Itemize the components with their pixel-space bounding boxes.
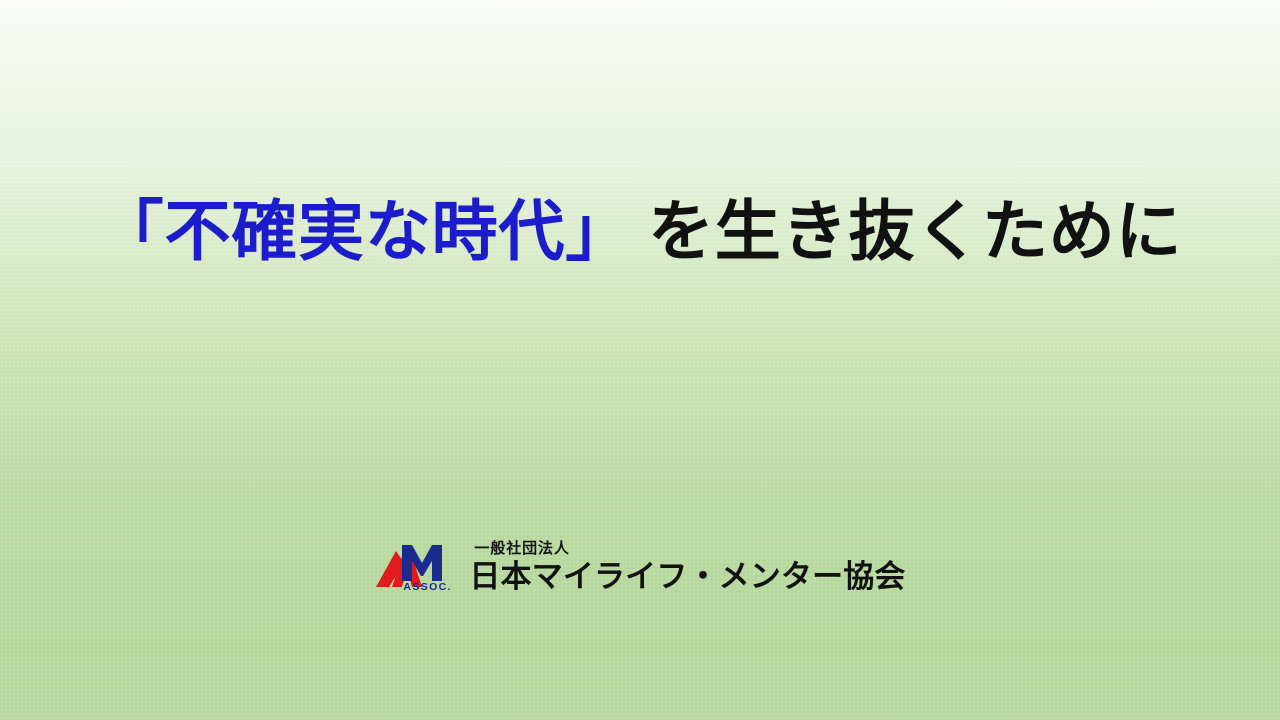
- title-quoted-phrase: 「不確実な時代」: [98, 194, 632, 268]
- title-line: 「不確実な時代」を生き抜くために: [98, 196, 1183, 267]
- presentation-slide: 「不確実な時代」を生き抜くために ASSOC. 一般社団法人 日本マイライフ・メ…: [0, 0, 1280, 720]
- logo-kicker: 一般社団法人: [469, 541, 905, 556]
- organization-logo: ASSOC. 一般社団法人 日本マイライフ・メンター協会: [0, 541, 1280, 593]
- title-remainder: を生き抜くために: [648, 194, 1182, 268]
- assoc-wordmark: ASSOC.: [403, 582, 451, 593]
- logo-text-block: 一般社団法人 日本マイライフ・メンター協会: [469, 541, 905, 593]
- am-assoc-mark-icon: ASSOC.: [374, 541, 460, 593]
- slide-title: 「不確実な時代」を生き抜くために: [0, 196, 1280, 267]
- logo-organization-name: 日本マイライフ・メンター協会: [469, 561, 905, 592]
